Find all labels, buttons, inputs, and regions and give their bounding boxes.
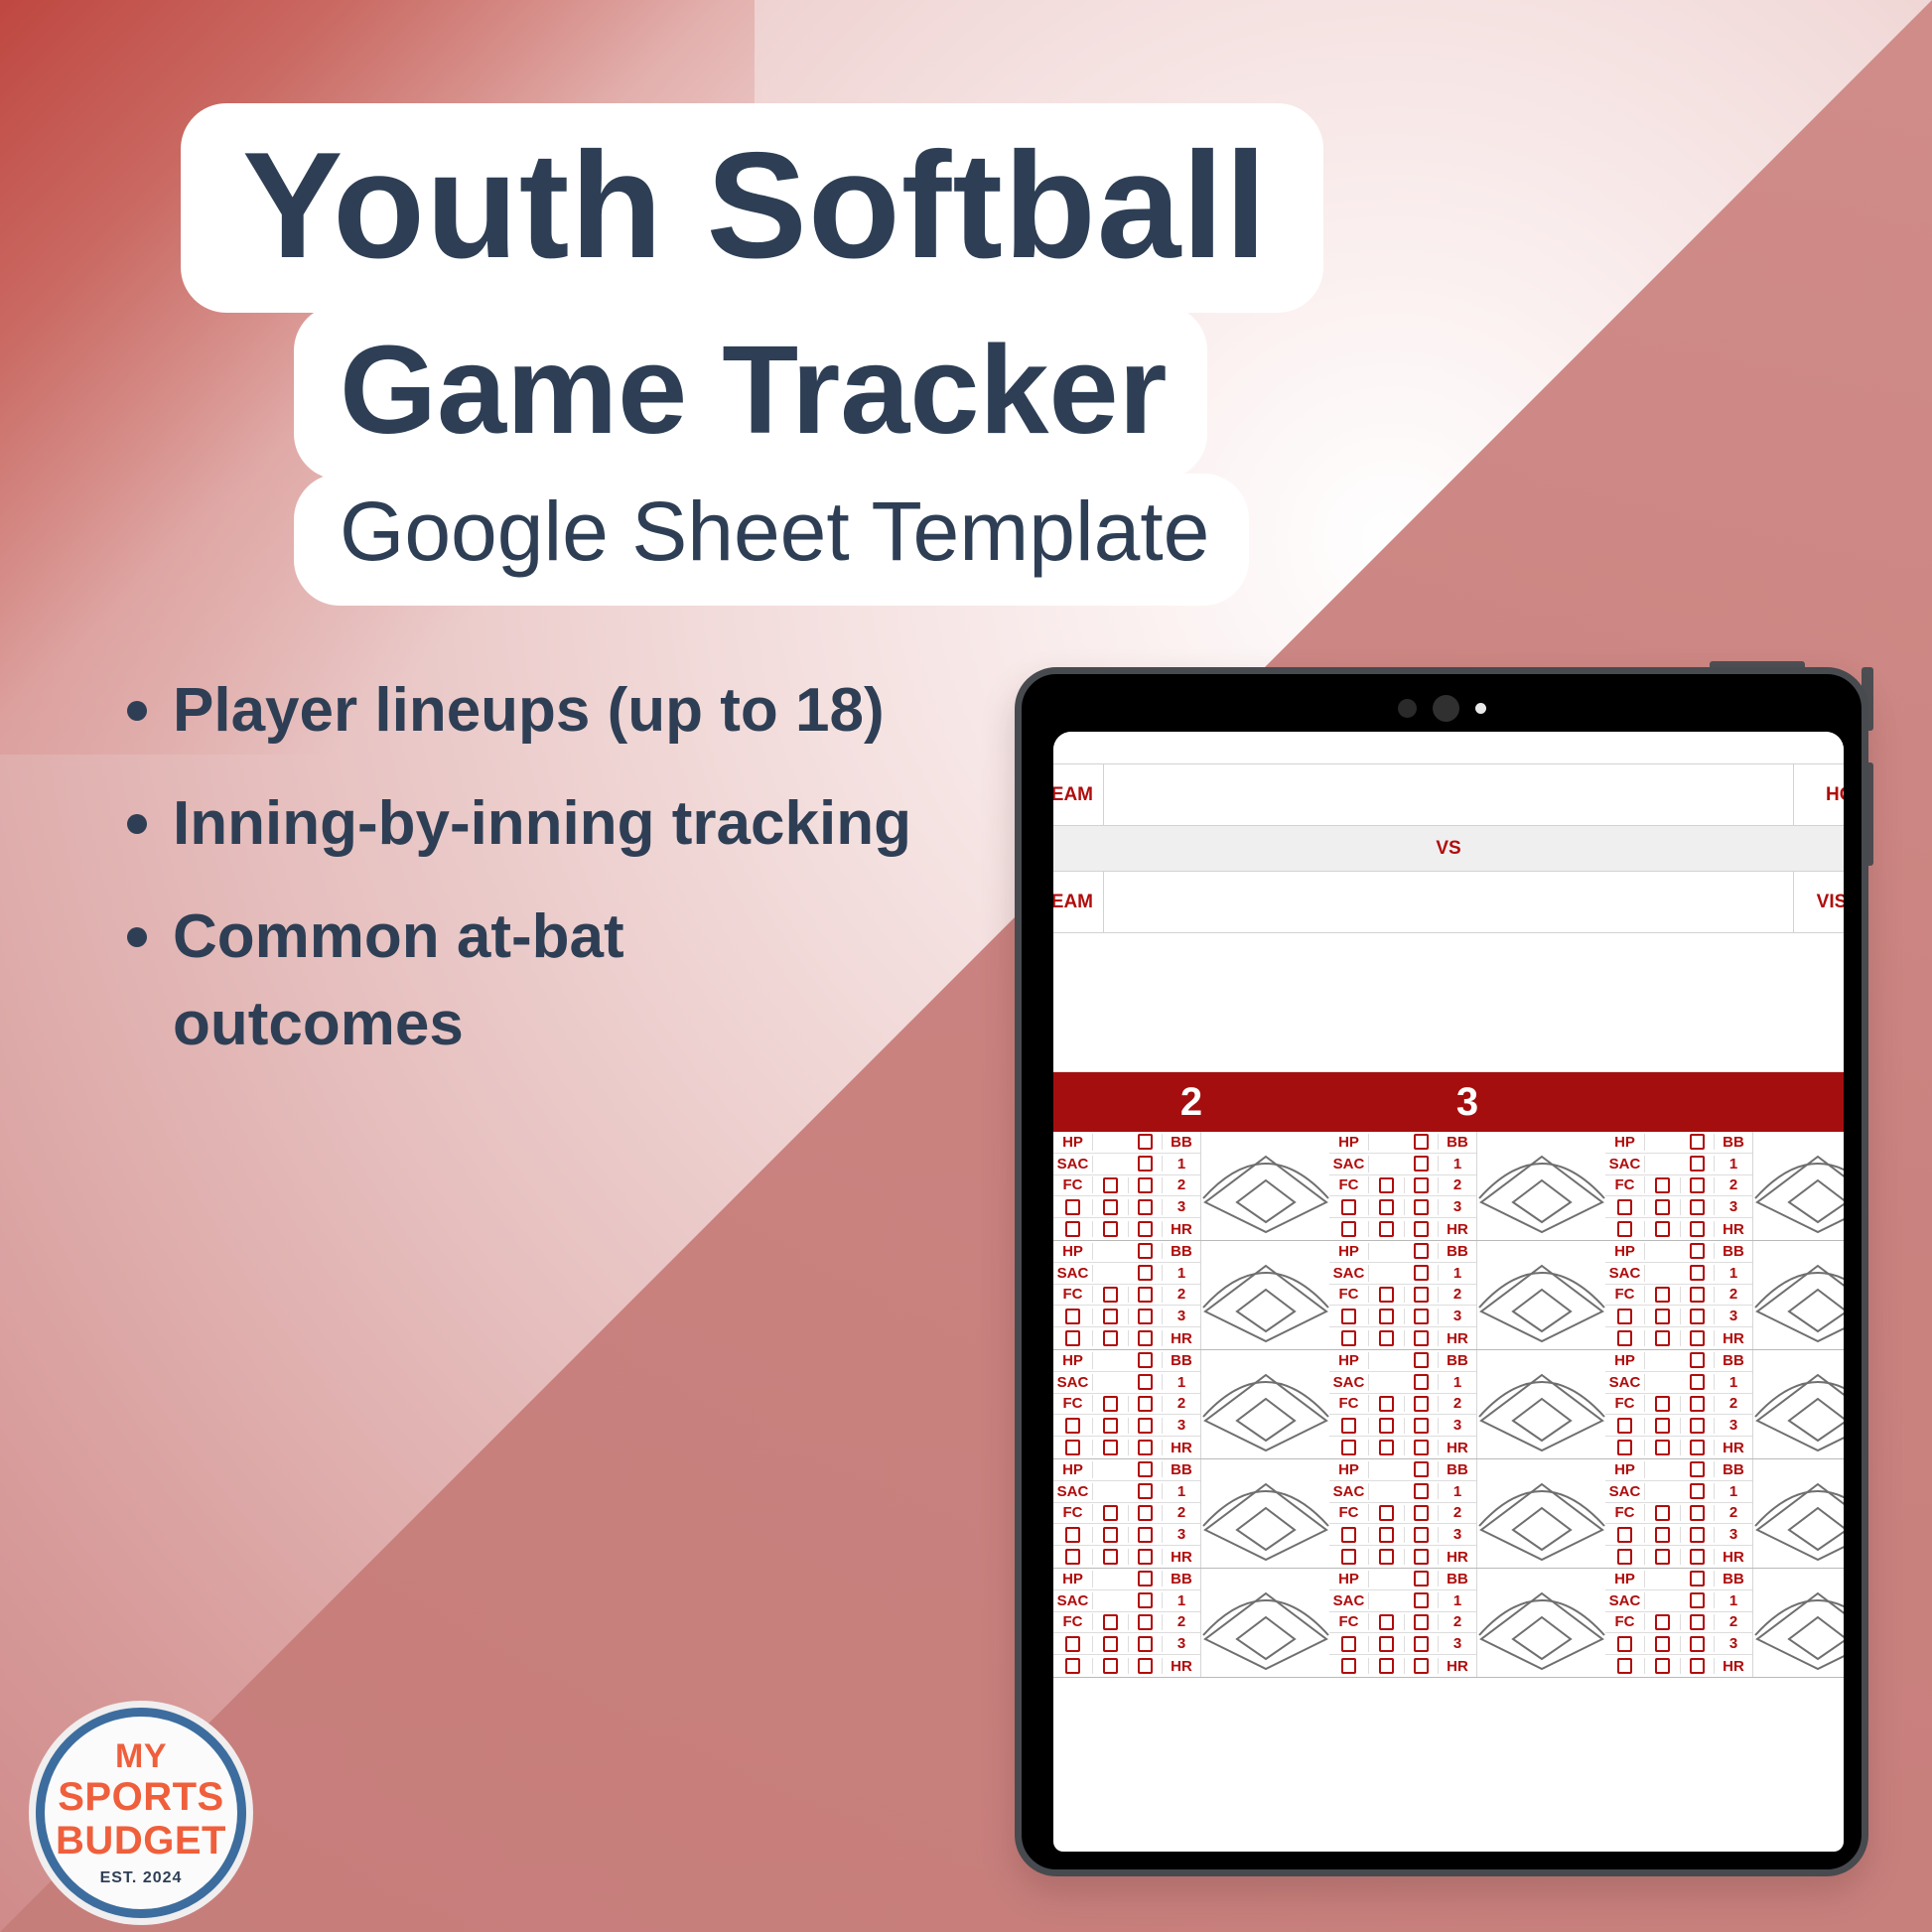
outcome-checkbox[interactable]	[1617, 1309, 1632, 1324]
outcome-checkbox[interactable]	[1379, 1221, 1394, 1237]
outcome-slot-c[interactable]	[1129, 1505, 1163, 1521]
outcome-slot-b[interactable]	[1093, 1396, 1129, 1412]
outcome-slot-c[interactable]	[1129, 1352, 1163, 1368]
outcome-checkbox[interactable]	[1414, 1374, 1429, 1390]
outcome-slot-c[interactable]	[1681, 1352, 1715, 1368]
outcome-label-left[interactable]	[1605, 1199, 1645, 1215]
outcome-checkbox[interactable]	[1414, 1134, 1429, 1150]
outcome-slot-c[interactable]	[1129, 1571, 1163, 1587]
baseball-diamond-icon[interactable]	[1200, 1132, 1329, 1240]
outcome-slot-c[interactable]	[1405, 1177, 1439, 1193]
outcome-checkbox[interactable]	[1379, 1177, 1394, 1193]
baseball-diamond-icon[interactable]	[1476, 1241, 1605, 1349]
outcome-slot-c[interactable]	[1681, 1177, 1715, 1193]
outcome-checkbox[interactable]	[1138, 1636, 1153, 1652]
outcome-checkbox[interactable]	[1341, 1199, 1356, 1215]
outcome-slot-c[interactable]	[1129, 1177, 1163, 1193]
player-atbat-cell[interactable]: HPBBSAC1FC23HR	[1053, 1459, 1329, 1569]
outcome-label-left[interactable]	[1053, 1549, 1093, 1565]
outcome-checkbox[interactable]	[1690, 1177, 1705, 1193]
outcome-label-left[interactable]	[1605, 1527, 1645, 1543]
outcome-label-left[interactable]	[1053, 1527, 1093, 1543]
outcome-checkbox[interactable]	[1138, 1287, 1153, 1303]
outcome-slot-b[interactable]	[1093, 1549, 1129, 1565]
outcome-checkbox[interactable]	[1341, 1527, 1356, 1543]
outcome-slot-b[interactable]	[1645, 1614, 1681, 1630]
outcome-slot-b[interactable]	[1369, 1221, 1405, 1237]
outcome-checkbox[interactable]	[1414, 1287, 1429, 1303]
outcome-checkbox[interactable]	[1138, 1309, 1153, 1324]
outcome-checkbox[interactable]	[1379, 1440, 1394, 1455]
outcome-checkbox[interactable]	[1103, 1199, 1118, 1215]
outcome-checkbox[interactable]	[1138, 1505, 1153, 1521]
outcome-checkbox[interactable]	[1690, 1527, 1705, 1543]
player-atbat-cell[interactable]: HPBBSAC1FC23HR	[1053, 1350, 1329, 1459]
outcome-slot-b[interactable]	[1369, 1199, 1405, 1215]
outcome-slot-b[interactable]	[1093, 1440, 1129, 1455]
home-team-input[interactable]	[1104, 764, 1794, 826]
outcome-checkbox[interactable]	[1414, 1658, 1429, 1674]
outcome-label-left[interactable]	[1053, 1309, 1093, 1324]
outcome-slot-b[interactable]	[1645, 1287, 1681, 1303]
outcome-slot-b[interactable]	[1645, 1527, 1681, 1543]
outcome-slot-c[interactable]	[1129, 1374, 1163, 1390]
outcome-checkbox[interactable]	[1655, 1396, 1670, 1412]
outcome-checkbox[interactable]	[1617, 1330, 1632, 1346]
outcome-checkbox[interactable]	[1138, 1265, 1153, 1281]
outcome-slot-b[interactable]	[1093, 1330, 1129, 1346]
outcome-checkbox[interactable]	[1103, 1309, 1118, 1324]
outcome-checkbox[interactable]	[1065, 1199, 1080, 1215]
outcome-label-left[interactable]	[1605, 1549, 1645, 1565]
outcome-slot-c[interactable]	[1405, 1527, 1439, 1543]
outcome-label-left[interactable]	[1329, 1330, 1369, 1346]
outcome-checkbox[interactable]	[1655, 1658, 1670, 1674]
outcome-checkbox[interactable]	[1065, 1527, 1080, 1543]
outcome-checkbox[interactable]	[1690, 1265, 1705, 1281]
outcome-checkbox[interactable]	[1690, 1505, 1705, 1521]
outcome-slot-c[interactable]	[1681, 1549, 1715, 1565]
outcome-slot-c[interactable]	[1129, 1396, 1163, 1412]
outcome-checkbox[interactable]	[1655, 1199, 1670, 1215]
outcome-label-left[interactable]	[1053, 1440, 1093, 1455]
outcome-checkbox[interactable]	[1379, 1418, 1394, 1434]
outcome-checkbox[interactable]	[1690, 1461, 1705, 1477]
outcome-label-left[interactable]	[1329, 1658, 1369, 1674]
player-atbat-cell[interactable]: HPBBSAC1FC23HR	[1605, 1459, 1844, 1569]
outcome-checkbox[interactable]	[1617, 1221, 1632, 1237]
player-atbat-cell[interactable]: HPBBSAC1FC23HR	[1605, 1241, 1844, 1350]
outcome-slot-b[interactable]	[1093, 1614, 1129, 1630]
outcome-checkbox[interactable]	[1341, 1330, 1356, 1346]
player-atbat-cell[interactable]: HPBBSAC1FC23HR	[1329, 1132, 1605, 1241]
outcome-checkbox[interactable]	[1414, 1461, 1429, 1477]
outcome-checkbox[interactable]	[1414, 1440, 1429, 1455]
outcome-checkbox[interactable]	[1341, 1658, 1356, 1674]
outcome-slot-c[interactable]	[1405, 1221, 1439, 1237]
outcome-checkbox[interactable]	[1138, 1330, 1153, 1346]
baseball-diamond-icon[interactable]	[1200, 1241, 1329, 1349]
baseball-diamond-icon[interactable]	[1200, 1569, 1329, 1677]
outcome-checkbox[interactable]	[1617, 1440, 1632, 1455]
outcome-label-left[interactable]	[1605, 1418, 1645, 1434]
outcome-checkbox[interactable]	[1103, 1658, 1118, 1674]
outcome-slot-c[interactable]	[1129, 1461, 1163, 1477]
outcome-checkbox[interactable]	[1690, 1592, 1705, 1608]
outcome-checkbox[interactable]	[1690, 1287, 1705, 1303]
outcome-slot-c[interactable]	[1405, 1549, 1439, 1565]
outcome-slot-c[interactable]	[1681, 1330, 1715, 1346]
outcome-checkbox[interactable]	[1617, 1549, 1632, 1565]
outcome-checkbox[interactable]	[1414, 1309, 1429, 1324]
outcome-checkbox[interactable]	[1414, 1418, 1429, 1434]
outcome-slot-c[interactable]	[1681, 1527, 1715, 1543]
outcome-checkbox[interactable]	[1655, 1636, 1670, 1652]
outcome-slot-c[interactable]	[1681, 1199, 1715, 1215]
outcome-slot-c[interactable]	[1681, 1243, 1715, 1259]
outcome-slot-c[interactable]	[1129, 1592, 1163, 1608]
outcome-checkbox[interactable]	[1103, 1440, 1118, 1455]
outcome-checkbox[interactable]	[1103, 1396, 1118, 1412]
outcome-checkbox[interactable]	[1138, 1461, 1153, 1477]
outcome-checkbox[interactable]	[1138, 1396, 1153, 1412]
baseball-diamond-icon[interactable]	[1752, 1350, 1844, 1458]
outcome-checkbox[interactable]	[1103, 1549, 1118, 1565]
outcome-label-left[interactable]	[1329, 1549, 1369, 1565]
outcome-slot-c[interactable]	[1681, 1505, 1715, 1521]
outcome-slot-b[interactable]	[1645, 1330, 1681, 1346]
outcome-slot-b[interactable]	[1645, 1440, 1681, 1455]
outcome-checkbox[interactable]	[1414, 1592, 1429, 1608]
outcome-checkbox[interactable]	[1379, 1505, 1394, 1521]
baseball-diamond-icon[interactable]	[1200, 1459, 1329, 1568]
outcome-slot-c[interactable]	[1681, 1287, 1715, 1303]
outcome-checkbox[interactable]	[1655, 1330, 1670, 1346]
outcome-checkbox[interactable]	[1138, 1614, 1153, 1630]
outcome-checkbox[interactable]	[1414, 1571, 1429, 1587]
outcome-checkbox[interactable]	[1655, 1440, 1670, 1455]
outcome-slot-c[interactable]	[1129, 1636, 1163, 1652]
outcome-slot-c[interactable]	[1681, 1483, 1715, 1499]
outcome-slot-b[interactable]	[1093, 1418, 1129, 1434]
outcome-slot-c[interactable]	[1129, 1309, 1163, 1324]
outcome-slot-c[interactable]	[1405, 1352, 1439, 1368]
outcome-slot-c[interactable]	[1129, 1287, 1163, 1303]
outcome-checkbox[interactable]	[1617, 1418, 1632, 1434]
outcome-slot-c[interactable]	[1405, 1287, 1439, 1303]
outcome-slot-c[interactable]	[1681, 1265, 1715, 1281]
baseball-diamond-icon[interactable]	[1476, 1132, 1605, 1240]
outcome-checkbox[interactable]	[1103, 1330, 1118, 1346]
outcome-checkbox[interactable]	[1065, 1330, 1080, 1346]
outcome-slot-b[interactable]	[1369, 1636, 1405, 1652]
player-atbat-cell[interactable]: HPBBSAC1FC23HR	[1605, 1350, 1844, 1459]
outcome-checkbox[interactable]	[1414, 1330, 1429, 1346]
outcome-checkbox[interactable]	[1103, 1177, 1118, 1193]
outcome-slot-c[interactable]	[1129, 1134, 1163, 1150]
player-atbat-cell[interactable]: HPBBSAC1FC23HR	[1605, 1569, 1844, 1678]
outcome-checkbox[interactable]	[1690, 1658, 1705, 1674]
outcome-checkbox[interactable]	[1690, 1134, 1705, 1150]
outcome-slot-c[interactable]	[1405, 1658, 1439, 1674]
outcome-checkbox[interactable]	[1655, 1549, 1670, 1565]
outcome-slot-c[interactable]	[1681, 1221, 1715, 1237]
outcome-slot-b[interactable]	[1369, 1418, 1405, 1434]
outcome-checkbox[interactable]	[1379, 1658, 1394, 1674]
outcome-slot-c[interactable]	[1681, 1309, 1715, 1324]
outcome-label-left[interactable]	[1329, 1636, 1369, 1652]
outcome-slot-c[interactable]	[1405, 1396, 1439, 1412]
outcome-slot-c[interactable]	[1405, 1330, 1439, 1346]
outcome-checkbox[interactable]	[1690, 1199, 1705, 1215]
outcome-slot-c[interactable]	[1405, 1636, 1439, 1652]
outcome-checkbox[interactable]	[1690, 1221, 1705, 1237]
outcome-slot-c[interactable]	[1681, 1418, 1715, 1434]
outcome-checkbox[interactable]	[1379, 1309, 1394, 1324]
outcome-slot-c[interactable]	[1405, 1243, 1439, 1259]
outcome-checkbox[interactable]	[1138, 1440, 1153, 1455]
outcome-slot-b[interactable]	[1369, 1505, 1405, 1521]
outcome-checkbox[interactable]	[1690, 1440, 1705, 1455]
outcome-slot-b[interactable]	[1369, 1549, 1405, 1565]
outcome-checkbox[interactable]	[1414, 1199, 1429, 1215]
outcome-label-left[interactable]	[1329, 1418, 1369, 1434]
outcome-slot-c[interactable]	[1681, 1658, 1715, 1674]
player-atbat-cell[interactable]: HPBBSAC1FC23HR	[1053, 1132, 1329, 1241]
outcome-checkbox[interactable]	[1655, 1177, 1670, 1193]
outcome-checkbox[interactable]	[1065, 1658, 1080, 1674]
outcome-slot-b[interactable]	[1093, 1221, 1129, 1237]
outcome-checkbox[interactable]	[1655, 1505, 1670, 1521]
outcome-slot-b[interactable]	[1093, 1177, 1129, 1193]
outcome-slot-c[interactable]	[1681, 1592, 1715, 1608]
outcome-checkbox[interactable]	[1138, 1527, 1153, 1543]
outcome-checkbox[interactable]	[1103, 1505, 1118, 1521]
outcome-checkbox[interactable]	[1414, 1156, 1429, 1172]
outcome-checkbox[interactable]	[1065, 1440, 1080, 1455]
outcome-checkbox[interactable]	[1103, 1636, 1118, 1652]
outcome-checkbox[interactable]	[1414, 1243, 1429, 1259]
outcome-label-left[interactable]	[1605, 1330, 1645, 1346]
outcome-slot-c[interactable]	[1405, 1265, 1439, 1281]
outcome-checkbox[interactable]	[1103, 1221, 1118, 1237]
outcome-slot-b[interactable]	[1093, 1287, 1129, 1303]
outcome-checkbox[interactable]	[1341, 1636, 1356, 1652]
outcome-slot-c[interactable]	[1405, 1461, 1439, 1477]
player-atbat-cell[interactable]: HPBBSAC1FC23HR	[1329, 1241, 1605, 1350]
outcome-checkbox[interactable]	[1655, 1418, 1670, 1434]
outcome-slot-c[interactable]	[1405, 1134, 1439, 1150]
outcome-checkbox[interactable]	[1690, 1418, 1705, 1434]
baseball-diamond-icon[interactable]	[1752, 1132, 1844, 1240]
outcome-checkbox[interactable]	[1341, 1549, 1356, 1565]
outcome-slot-b[interactable]	[1645, 1549, 1681, 1565]
outcome-label-left[interactable]	[1605, 1658, 1645, 1674]
outcome-slot-c[interactable]	[1129, 1156, 1163, 1172]
outcome-checkbox[interactable]	[1655, 1614, 1670, 1630]
outcome-checkbox[interactable]	[1617, 1199, 1632, 1215]
outcome-checkbox[interactable]	[1655, 1287, 1670, 1303]
outcome-label-left[interactable]	[1605, 1636, 1645, 1652]
outcome-slot-b[interactable]	[1645, 1199, 1681, 1215]
outcome-slot-c[interactable]	[1681, 1156, 1715, 1172]
outcome-slot-b[interactable]	[1093, 1199, 1129, 1215]
outcome-slot-b[interactable]	[1369, 1658, 1405, 1674]
outcome-slot-c[interactable]	[1681, 1374, 1715, 1390]
outcome-checkbox[interactable]	[1617, 1658, 1632, 1674]
outcome-checkbox[interactable]	[1065, 1221, 1080, 1237]
outcome-slot-b[interactable]	[1369, 1309, 1405, 1324]
outcome-checkbox[interactable]	[1103, 1527, 1118, 1543]
outcome-checkbox[interactable]	[1617, 1527, 1632, 1543]
player-atbat-cell[interactable]: HPBBSAC1FC23HR	[1329, 1569, 1605, 1678]
outcome-checkbox[interactable]	[1414, 1549, 1429, 1565]
outcome-checkbox[interactable]	[1690, 1636, 1705, 1652]
outcome-slot-c[interactable]	[1405, 1571, 1439, 1587]
outcome-checkbox[interactable]	[1379, 1396, 1394, 1412]
outcome-checkbox[interactable]	[1138, 1156, 1153, 1172]
visitor-team-input[interactable]	[1104, 872, 1794, 933]
outcome-slot-c[interactable]	[1405, 1592, 1439, 1608]
outcome-label-left[interactable]	[1053, 1418, 1093, 1434]
outcome-label-left[interactable]	[1329, 1440, 1369, 1455]
outcome-checkbox[interactable]	[1379, 1614, 1394, 1630]
outcome-slot-c[interactable]	[1129, 1265, 1163, 1281]
outcome-checkbox[interactable]	[1379, 1330, 1394, 1346]
outcome-slot-c[interactable]	[1129, 1527, 1163, 1543]
outcome-checkbox[interactable]	[1690, 1352, 1705, 1368]
outcome-slot-c[interactable]	[1405, 1309, 1439, 1324]
baseball-diamond-icon[interactable]	[1752, 1459, 1844, 1568]
player-atbat-cell[interactable]: HPBBSAC1FC23HR	[1605, 1132, 1844, 1241]
outcome-label-left[interactable]	[1605, 1309, 1645, 1324]
baseball-diamond-icon[interactable]	[1752, 1569, 1844, 1677]
outcome-checkbox[interactable]	[1617, 1636, 1632, 1652]
outcome-label-left[interactable]	[1605, 1221, 1645, 1237]
outcome-slot-c[interactable]	[1129, 1440, 1163, 1455]
outcome-label-left[interactable]	[1053, 1330, 1093, 1346]
outcome-slot-c[interactable]	[1405, 1440, 1439, 1455]
outcome-slot-b[interactable]	[1093, 1636, 1129, 1652]
outcome-slot-c[interactable]	[1129, 1614, 1163, 1630]
outcome-checkbox[interactable]	[1690, 1614, 1705, 1630]
outcome-checkbox[interactable]	[1138, 1221, 1153, 1237]
outcome-checkbox[interactable]	[1690, 1374, 1705, 1390]
outcome-slot-c[interactable]	[1405, 1199, 1439, 1215]
outcome-label-left[interactable]	[1329, 1199, 1369, 1215]
outcome-checkbox[interactable]	[1414, 1177, 1429, 1193]
outcome-checkbox[interactable]	[1138, 1592, 1153, 1608]
outcome-slot-b[interactable]	[1093, 1658, 1129, 1674]
outcome-label-left[interactable]	[1053, 1636, 1093, 1652]
outcome-slot-c[interactable]	[1129, 1483, 1163, 1499]
outcome-slot-b[interactable]	[1645, 1177, 1681, 1193]
outcome-slot-b[interactable]	[1369, 1177, 1405, 1193]
outcome-checkbox[interactable]	[1138, 1549, 1153, 1565]
outcome-checkbox[interactable]	[1690, 1243, 1705, 1259]
outcome-checkbox[interactable]	[1341, 1418, 1356, 1434]
baseball-diamond-icon[interactable]	[1200, 1350, 1329, 1458]
outcome-checkbox[interactable]	[1065, 1549, 1080, 1565]
outcome-checkbox[interactable]	[1690, 1330, 1705, 1346]
outcome-label-left[interactable]	[1053, 1199, 1093, 1215]
outcome-slot-c[interactable]	[1405, 1483, 1439, 1499]
outcome-checkbox[interactable]	[1138, 1658, 1153, 1674]
outcome-slot-c[interactable]	[1405, 1418, 1439, 1434]
player-atbat-cell[interactable]: HPBBSAC1FC23HR	[1053, 1569, 1329, 1678]
outcome-slot-b[interactable]	[1645, 1309, 1681, 1324]
outcome-checkbox[interactable]	[1690, 1571, 1705, 1587]
outcome-checkbox[interactable]	[1103, 1418, 1118, 1434]
outcome-checkbox[interactable]	[1138, 1374, 1153, 1390]
outcome-checkbox[interactable]	[1379, 1199, 1394, 1215]
outcome-checkbox[interactable]	[1138, 1243, 1153, 1259]
outcome-checkbox[interactable]	[1414, 1614, 1429, 1630]
outcome-checkbox[interactable]	[1690, 1309, 1705, 1324]
outcome-checkbox[interactable]	[1379, 1636, 1394, 1652]
outcome-slot-c[interactable]	[1681, 1134, 1715, 1150]
outcome-checkbox[interactable]	[1103, 1287, 1118, 1303]
outcome-checkbox[interactable]	[1379, 1549, 1394, 1565]
outcome-slot-c[interactable]	[1681, 1614, 1715, 1630]
outcome-slot-c[interactable]	[1405, 1505, 1439, 1521]
outcome-slot-c[interactable]	[1681, 1636, 1715, 1652]
outcome-slot-b[interactable]	[1645, 1221, 1681, 1237]
outcome-slot-c[interactable]	[1405, 1614, 1439, 1630]
outcome-label-left[interactable]	[1329, 1527, 1369, 1543]
outcome-slot-b[interactable]	[1645, 1396, 1681, 1412]
outcome-slot-b[interactable]	[1369, 1330, 1405, 1346]
outcome-slot-c[interactable]	[1405, 1156, 1439, 1172]
outcome-slot-b[interactable]	[1645, 1636, 1681, 1652]
outcome-checkbox[interactable]	[1414, 1527, 1429, 1543]
outcome-checkbox[interactable]	[1655, 1527, 1670, 1543]
outcome-slot-c[interactable]	[1129, 1418, 1163, 1434]
outcome-checkbox[interactable]	[1655, 1221, 1670, 1237]
outcome-checkbox[interactable]	[1379, 1287, 1394, 1303]
player-atbat-cell[interactable]: HPBBSAC1FC23HR	[1329, 1350, 1605, 1459]
outcome-checkbox[interactable]	[1065, 1418, 1080, 1434]
outcome-checkbox[interactable]	[1341, 1221, 1356, 1237]
outcome-checkbox[interactable]	[1690, 1396, 1705, 1412]
outcome-checkbox[interactable]	[1414, 1483, 1429, 1499]
outcome-checkbox[interactable]	[1379, 1527, 1394, 1543]
outcome-slot-b[interactable]	[1645, 1418, 1681, 1434]
outcome-checkbox[interactable]	[1414, 1265, 1429, 1281]
outcome-slot-b[interactable]	[1645, 1505, 1681, 1521]
outcome-checkbox[interactable]	[1065, 1309, 1080, 1324]
outcome-slot-b[interactable]	[1645, 1658, 1681, 1674]
outcome-checkbox[interactable]	[1414, 1396, 1429, 1412]
outcome-slot-c[interactable]	[1129, 1330, 1163, 1346]
outcome-slot-c[interactable]	[1681, 1571, 1715, 1587]
outcome-checkbox[interactable]	[1414, 1505, 1429, 1521]
outcome-checkbox[interactable]	[1655, 1309, 1670, 1324]
outcome-checkbox[interactable]	[1138, 1483, 1153, 1499]
outcome-checkbox[interactable]	[1138, 1571, 1153, 1587]
outcome-label-left[interactable]	[1053, 1658, 1093, 1674]
outcome-checkbox[interactable]	[1138, 1418, 1153, 1434]
outcome-slot-b[interactable]	[1093, 1505, 1129, 1521]
outcome-checkbox[interactable]	[1341, 1309, 1356, 1324]
outcome-slot-b[interactable]	[1369, 1287, 1405, 1303]
outcome-slot-c[interactable]	[1681, 1396, 1715, 1412]
outcome-slot-b[interactable]	[1369, 1396, 1405, 1412]
outcome-checkbox[interactable]	[1138, 1352, 1153, 1368]
outcome-slot-c[interactable]	[1129, 1549, 1163, 1565]
player-atbat-cell[interactable]: HPBBSAC1FC23HR	[1329, 1459, 1605, 1569]
outcome-label-left[interactable]	[1053, 1221, 1093, 1237]
